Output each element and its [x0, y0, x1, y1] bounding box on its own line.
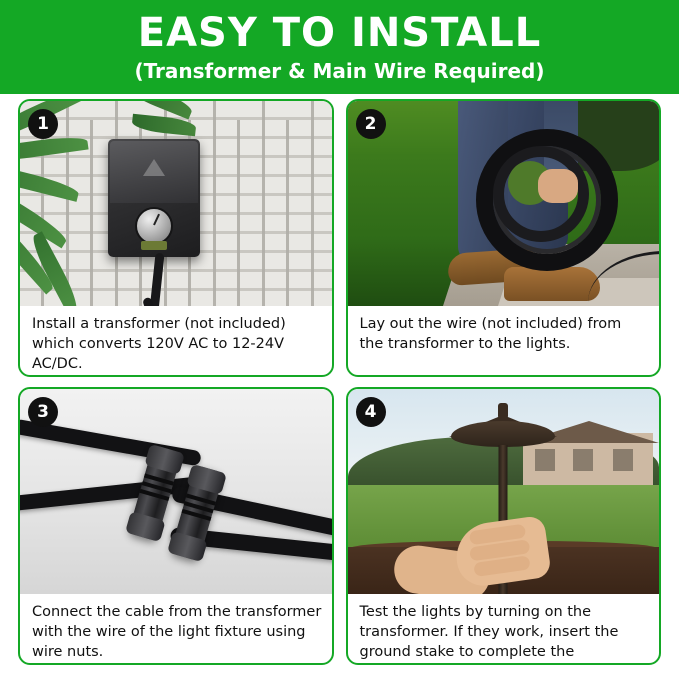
step-3-image: 3	[20, 389, 332, 594]
step-badge-1: 1	[28, 109, 58, 139]
page-subtitle: (Transformer & Main Wire Required)	[0, 58, 679, 84]
step-caption-3: Connect the cable from the transformer w…	[20, 594, 332, 665]
person-hand	[538, 169, 578, 203]
step-card-4: 4 Test the lights by turning on the tran…	[346, 387, 662, 665]
step-1-image: 1	[20, 101, 332, 306]
step-4-image: 4	[348, 389, 660, 594]
palm-frond	[20, 160, 80, 202]
brick-wall-scene	[20, 101, 332, 306]
step-card-2: 2 Lay out the wire (not included) from t…	[346, 99, 662, 377]
header-banner: EASY TO INSTALL (Transformer & Main Wire…	[0, 0, 679, 94]
step-badge-2: 2	[356, 109, 386, 139]
lawn-scene	[348, 101, 660, 306]
install-instructions-page: EASY TO INSTALL (Transformer & Main Wire…	[0, 0, 679, 679]
connector-cap-top	[186, 464, 227, 495]
steps-grid: 1 Install a transformer (not included) w…	[0, 95, 679, 679]
step-caption-4: Test the lights by turning on the transf…	[348, 594, 660, 665]
transformer-logo-icon	[143, 159, 165, 176]
palm-frond	[20, 134, 89, 165]
house-window	[573, 449, 593, 471]
transformer-label-badge	[141, 241, 167, 250]
step-caption-2: Lay out the wire (not included) from the…	[348, 306, 660, 375]
transformer-unit	[108, 139, 200, 257]
house-window	[535, 449, 555, 471]
step-card-1: 1 Install a transformer (not included) w…	[18, 99, 334, 377]
step-badge-4: 4	[356, 397, 386, 427]
page-title: EASY TO INSTALL	[0, 10, 679, 56]
connector-cap-bottom	[167, 531, 208, 562]
step-badge-3: 3	[28, 397, 58, 427]
step-card-3: 3 Connect the cable from the transformer…	[18, 387, 334, 665]
yard-scene	[348, 389, 660, 594]
transformer-dial	[135, 207, 173, 245]
cable-connection-scene	[20, 389, 332, 594]
dial-marker	[153, 214, 160, 226]
lamp-shade	[451, 421, 555, 447]
step-caption-1: Install a transformer (not included) whi…	[20, 306, 332, 377]
step-2-image: 2	[348, 101, 660, 306]
house-window	[613, 449, 633, 471]
connector-cap-bottom	[125, 511, 166, 542]
